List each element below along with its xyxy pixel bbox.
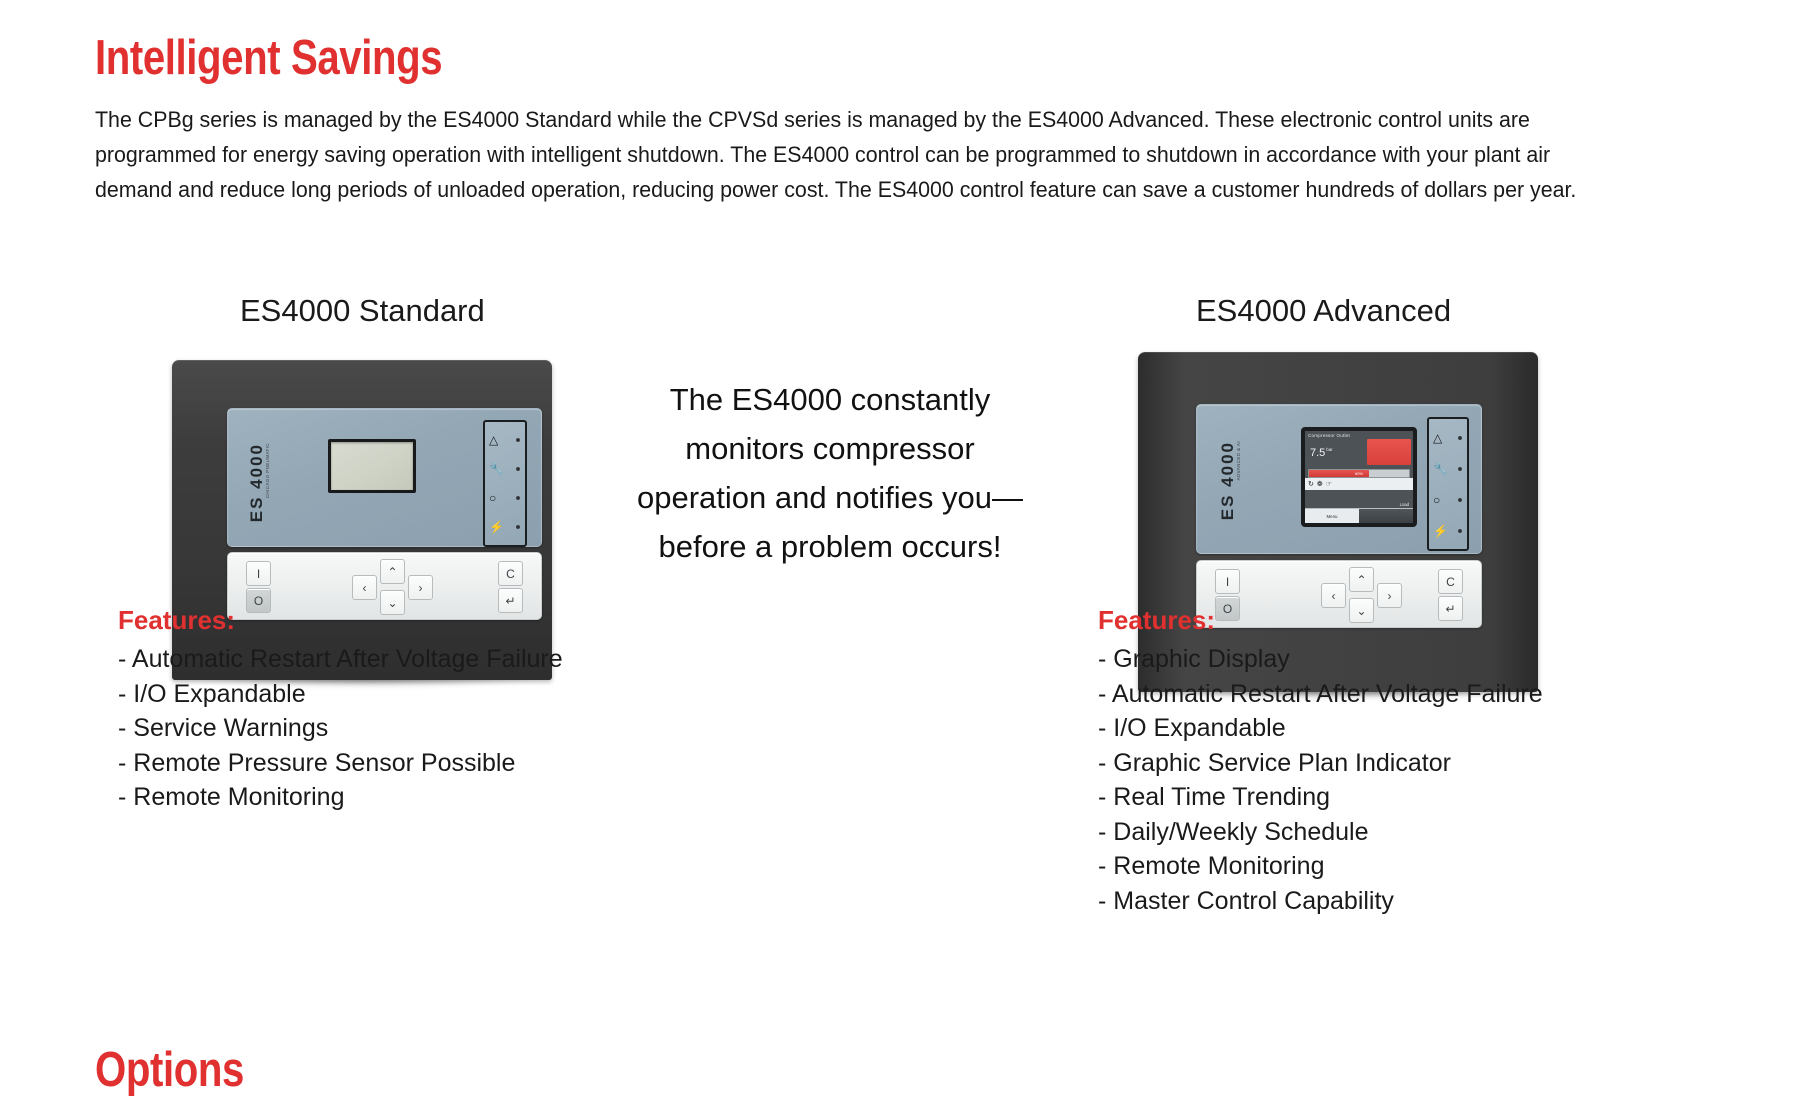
- lightning-bolt-icon: ⚡: [489, 521, 504, 533]
- status-row-running: ○: [485, 484, 525, 513]
- lcd-pressure-value: 7.5: [1310, 447, 1325, 459]
- features-list-standard: - Automatic Restart After Voltage Failur…: [118, 642, 563, 815]
- list-item: - Remote Pressure Sensor Possible: [118, 746, 563, 781]
- wrench-icon: 🔧: [1433, 463, 1448, 475]
- device-title-standard: ES4000 Standard: [240, 293, 485, 329]
- lcd-pressure-unit: bar: [1325, 447, 1332, 452]
- key-cancel[interactable]: C: [498, 561, 523, 586]
- lcd-icon-row: ↻ ❁ ☞: [1305, 478, 1413, 490]
- list-item: - Graphic Service Plan Indicator: [1098, 746, 1543, 781]
- device-title-advanced: ES4000 Advanced: [1196, 293, 1451, 329]
- list-item: - Remote Monitoring: [118, 780, 563, 815]
- led-running: [516, 496, 520, 500]
- wrench-icon: 🔧: [489, 463, 504, 475]
- led-power: [1458, 529, 1462, 533]
- list-item: - Real Time Trending: [1098, 780, 1543, 815]
- status-row-running: ○: [1429, 484, 1467, 515]
- circle-icon: ○: [1433, 494, 1440, 506]
- key-cancel[interactable]: C: [1438, 569, 1463, 594]
- features-list-advanced: - Graphic Display - Automatic Restart Af…: [1098, 642, 1543, 918]
- warning-triangle-icon: △: [489, 434, 498, 446]
- lcd-display-monochrome: [328, 439, 416, 493]
- lcd-display-graphic[interactable]: Compressor Outlet 7.5bar 60% ↻ ❁ ☞ Load …: [1301, 427, 1417, 527]
- list-item: - I/O Expandable: [1098, 711, 1543, 746]
- list-item: - Automatic Restart After Voltage Failur…: [1098, 677, 1543, 712]
- status-row-power: ⚡: [485, 513, 525, 542]
- lcd-progress-label: 60%: [1309, 470, 1409, 477]
- fan-icon[interactable]: ❁: [1317, 480, 1323, 490]
- features-block-standard: Features: - Automatic Restart After Volt…: [118, 605, 563, 815]
- list-item: - Graphic Display: [1098, 642, 1543, 677]
- refresh-icon[interactable]: ↻: [1308, 480, 1314, 490]
- key-up-arrow[interactable]: ⌃: [380, 559, 405, 584]
- status-row-service: 🔧: [1429, 453, 1467, 484]
- lcd-softkey-right[interactable]: [1359, 509, 1413, 523]
- warning-triangle-icon: △: [1433, 432, 1442, 444]
- features-heading: Features:: [1098, 605, 1543, 636]
- lcd-menu-softkey[interactable]: Menu: [1305, 509, 1359, 523]
- features-block-advanced: Features: - Graphic Display - Automatic …: [1098, 605, 1543, 918]
- brand-sublabel: ADVANCED & AI: [1236, 441, 1241, 480]
- led-service: [1458, 467, 1462, 471]
- status-row-power: ⚡: [1429, 515, 1467, 546]
- lcd-main-row: 7.5bar: [1305, 438, 1413, 468]
- status-row-service: 🔧: [485, 454, 525, 483]
- key-right-arrow[interactable]: ›: [408, 575, 433, 600]
- lcd-screen-content: Compressor Outlet 7.5bar 60% ↻ ❁ ☞ Load …: [1305, 431, 1413, 523]
- key-start[interactable]: I: [246, 561, 271, 586]
- lightning-bolt-icon: ⚡: [1433, 525, 1448, 537]
- circle-icon: ○: [489, 492, 496, 504]
- brand-label: ES 4000: [1219, 441, 1236, 520]
- led-warning: [516, 438, 520, 442]
- led-power: [516, 525, 520, 529]
- heading-intelligent-savings: Intelligent Savings: [95, 30, 442, 86]
- status-row-warning: △: [1429, 422, 1467, 453]
- led-running: [1458, 498, 1462, 502]
- status-led-panel: △ 🔧 ○ ⚡: [483, 420, 527, 547]
- led-service: [516, 467, 520, 471]
- status-row-warning: △: [485, 425, 525, 454]
- features-heading: Features:: [118, 605, 563, 636]
- key-left-arrow[interactable]: ‹: [352, 575, 377, 600]
- brand-label: ES 4000: [248, 443, 265, 522]
- heading-options: Options: [95, 1042, 244, 1098]
- lcd-header-label: Compressor Outlet: [1305, 431, 1413, 438]
- list-item: - Remote Monitoring: [1098, 849, 1543, 884]
- status-led-panel: △ 🔧 ○ ⚡: [1427, 417, 1469, 551]
- lcd-progress-bar: 60%: [1308, 469, 1410, 478]
- list-item: - Service Warnings: [118, 711, 563, 746]
- list-item: - I/O Expandable: [118, 677, 563, 712]
- lcd-pressure-readout: 7.5bar: [1305, 448, 1333, 459]
- list-item: - Master Control Capability: [1098, 884, 1543, 919]
- intro-paragraph: The CPBg series is managed by the ES4000…: [95, 102, 1625, 207]
- led-warning: [1458, 436, 1462, 440]
- lcd-softkey-bar: Menu: [1305, 508, 1413, 523]
- brand-sublabel: CHICAGO PNEUMATIC: [265, 443, 270, 498]
- hand-icon[interactable]: ☞: [1326, 480, 1332, 490]
- device-faceplate: ES 4000 ADVANCED & AI Compressor Outlet …: [1196, 404, 1482, 554]
- lcd-load-label: Load: [1400, 502, 1409, 507]
- lcd-red-graphic: [1367, 439, 1411, 465]
- center-callout-text: The ES4000 constantly monitors compresso…: [620, 375, 1040, 571]
- device-faceplate: ES 4000 CHICAGO PNEUMATIC △ 🔧 ○ ⚡: [227, 408, 542, 547]
- list-item: - Daily/Weekly Schedule: [1098, 815, 1543, 850]
- key-start[interactable]: I: [1215, 569, 1240, 594]
- list-item: - Automatic Restart After Voltage Failur…: [118, 642, 563, 677]
- key-up-arrow[interactable]: ⌃: [1349, 567, 1374, 592]
